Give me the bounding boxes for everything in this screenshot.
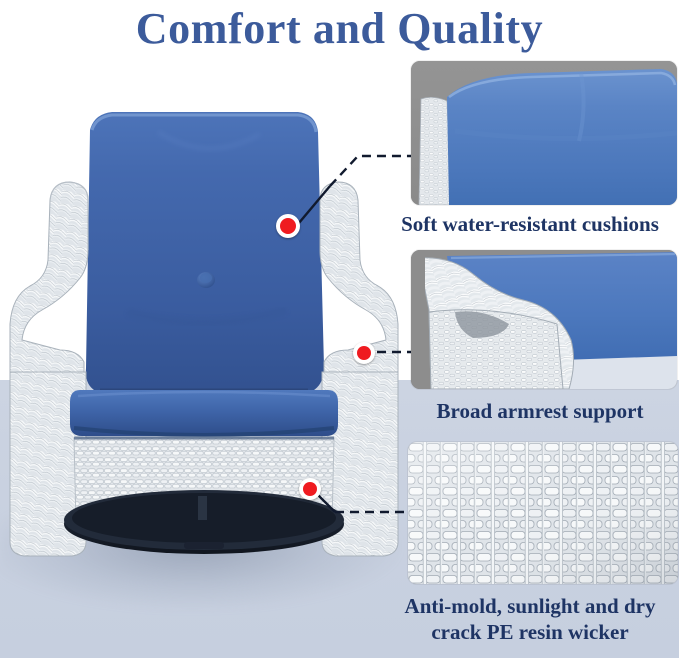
cushion-closeup-image xyxy=(411,61,677,205)
caption-wicker: Anti-mold, sunlight and dry crack PE res… xyxy=(381,593,679,645)
caption-armrest: Broad armrest support xyxy=(401,399,679,424)
infographic-page: Comfort and Quality xyxy=(0,0,679,658)
hotspot-marker-base[interactable] xyxy=(299,478,321,500)
product-image-swivel-chair xyxy=(8,72,400,572)
wicker-weave-closeup-image xyxy=(408,442,678,584)
seat-cushion-shape xyxy=(70,390,338,436)
hotspot-marker-cushion[interactable] xyxy=(276,214,300,238)
hotspot-marker-armrest[interactable] xyxy=(353,342,375,364)
page-title: Comfort and Quality xyxy=(0,2,679,56)
caption-cushion: Soft water-resistant cushions xyxy=(381,212,679,237)
armrest-closeup-image xyxy=(411,250,677,389)
back-cushion-shape xyxy=(86,112,324,394)
swivel-base-shape xyxy=(64,490,344,554)
